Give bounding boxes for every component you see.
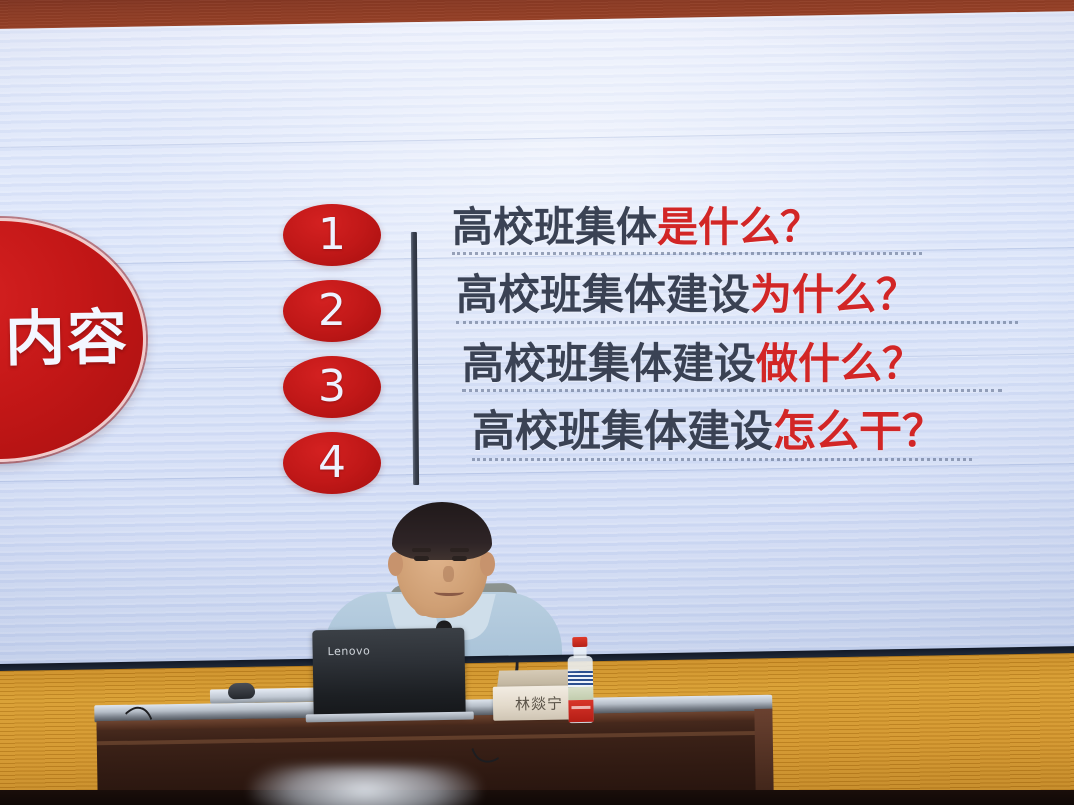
bottle-neck: [573, 646, 586, 658]
slide-number-label: 1: [318, 213, 346, 257]
speaker-ear-left: [388, 552, 403, 576]
lecture-hall-scene: 内容 1 2 3 4 高校班集体是什么？ 高校班集体建设为什么？ 高校班集体建设…: [0, 0, 1074, 805]
slide-list-item-accent: 做什么？: [756, 339, 924, 388]
laptop-brand-label: Lenovo: [328, 644, 371, 658]
bottle-cap: [572, 637, 587, 647]
computer-mouse: [228, 683, 256, 700]
speaker-eyebrow-right: [450, 548, 469, 552]
slide-number-label: 4: [318, 441, 346, 485]
slide-list-item: 高校班集体建设怎么干？: [472, 409, 1052, 461]
slide-list-item-text: 高校班集体建设怎么干？: [472, 409, 1052, 455]
slide-number-bubble: 2: [283, 280, 381, 342]
slide-list-item-prefix: 高校班集体建设: [456, 270, 750, 319]
foreground-blur-object: [250, 766, 480, 805]
speaker-nameplate-text: 林燚宁: [515, 692, 563, 714]
bottle-label-middle: [568, 687, 593, 700]
slide-list-item-accent: 怎么干？: [773, 407, 945, 457]
slide-number-bubble: 1: [283, 204, 381, 266]
speaker-eyebrow-left: [412, 548, 431, 552]
slide-number-bubble: 3: [283, 356, 381, 418]
slide-list-item-underline: [456, 321, 1018, 324]
speaker-nose: [443, 566, 454, 582]
laptop-lid: [312, 628, 466, 719]
slide-number-label: 2: [318, 289, 346, 333]
slide-list-item-prefix: 高校班集体建设: [462, 339, 756, 388]
bottle-label-lower: [568, 700, 593, 722]
speaker-ear-right: [480, 552, 495, 576]
speaker-eye-right: [452, 556, 467, 561]
speaker-mouth: [434, 588, 464, 596]
slide-list-item-underline: [452, 252, 922, 255]
slide-list-item: 高校班集体建设做什么？: [462, 341, 1052, 392]
laptop[interactable]: Lenovo: [312, 628, 466, 719]
slide-list-item: 高校班集体建设为什么？: [456, 272, 1052, 323]
slide-list-item-underline: [472, 458, 972, 461]
slide-list-item: 高校班集体是什么？: [452, 205, 1052, 255]
floor: [0, 790, 1074, 805]
slide-list-item-prefix: 高校班集体: [452, 203, 657, 251]
desk-side-panel: [754, 709, 773, 801]
slide-list-item-underline: [462, 389, 1002, 392]
speaker-hair: [392, 502, 492, 560]
slide-list-item-accent: 为什么？: [750, 270, 918, 319]
slide-number-label: 3: [318, 365, 346, 409]
slide-list-item-text: 高校班集体建设做什么？: [462, 341, 1052, 386]
slide-text-column: 高校班集体是什么？ 高校班集体建设为什么？ 高校班集体建设做什么？ 高校班集体建…: [452, 205, 1052, 478]
slide-list-item-text: 高校班集体建设为什么？: [456, 272, 1052, 317]
speaker-eye-left: [414, 556, 429, 561]
slide-number-column: 1 2 3 4: [283, 204, 389, 508]
slide-list-item-prefix: 高校班集体建设: [472, 407, 773, 457]
slide-number-bubble: 4: [283, 432, 381, 494]
slide-list-item-text: 高校班集体是什么？: [452, 205, 1052, 249]
water-bottle: [567, 637, 593, 723]
slide-list-item-accent: 是什么？: [657, 203, 821, 251]
bottle-label-upper: [568, 671, 593, 687]
slide-section-badge-label: 内容: [5, 308, 144, 370]
